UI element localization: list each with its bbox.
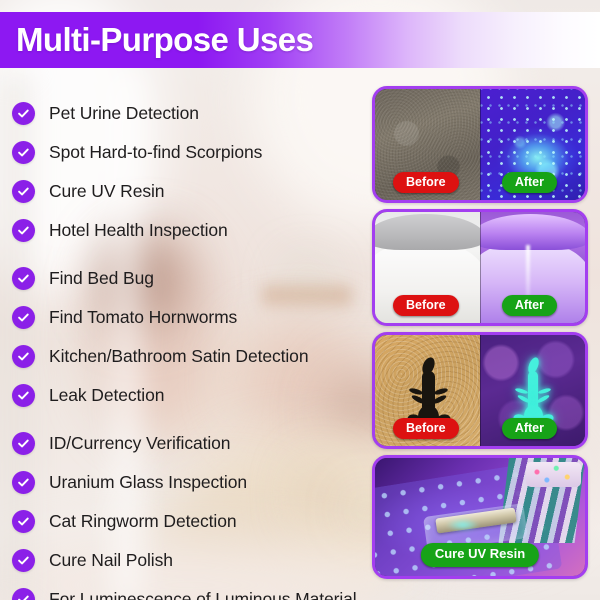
check-circle-icon: [12, 588, 35, 600]
check-circle-icon: [12, 510, 35, 533]
list-item: Kitchen/Bathroom Satin Detection: [12, 339, 384, 373]
check-circle-icon: [12, 102, 35, 125]
after-badge: After: [502, 418, 557, 439]
list-item: Leak Detection: [12, 378, 384, 412]
list-item: For Luminescence of Luminous Material: [12, 582, 384, 600]
page-title: Multi-Purpose Uses: [16, 21, 313, 59]
comparison-card-scorpion: Before After: [372, 332, 588, 449]
feature-card-cure-uv-resin: Cure UV Resin: [372, 455, 588, 579]
list-item: Spot Hard-to-find Scorpions: [12, 135, 384, 169]
feature-group-2: Find Bed Bug Find Tomato Hornworms Kitch…: [12, 261, 384, 412]
card-divider: [480, 89, 481, 200]
list-item: Find Bed Bug: [12, 261, 384, 295]
card-divider: [480, 335, 481, 446]
feature-group-3: ID/Currency Verification Uranium Glass I…: [12, 426, 384, 600]
header-banner: Multi-Purpose Uses: [0, 12, 600, 68]
list-item: Cure UV Resin: [12, 174, 384, 208]
list-item: Uranium Glass Inspection: [12, 465, 384, 499]
after-badge: After: [502, 295, 557, 316]
check-circle-icon: [12, 471, 35, 494]
check-circle-icon: [12, 549, 35, 572]
list-item-label: Cure Nail Polish: [49, 550, 173, 571]
list-item: Cat Ringworm Detection: [12, 504, 384, 538]
comparison-card-list: Before After Before After: [372, 86, 588, 579]
before-badge: Before: [393, 172, 459, 193]
list-item-label: For Luminescence of Luminous Material: [49, 589, 357, 600]
list-item-label: Leak Detection: [49, 385, 164, 406]
list-item: Hotel Health Inspection: [12, 213, 384, 247]
check-circle-icon: [12, 306, 35, 329]
list-item-label: Uranium Glass Inspection: [49, 472, 247, 493]
check-circle-icon: [12, 267, 35, 290]
list-item: Pet Urine Detection: [12, 96, 384, 130]
before-badge: Before: [393, 295, 459, 316]
poster-root: Multi-Purpose Uses Pet Urine Detection S…: [0, 0, 600, 600]
after-badge: After: [502, 172, 557, 193]
before-badge: Before: [393, 418, 459, 439]
list-item-label: Spot Hard-to-find Scorpions: [49, 142, 262, 163]
list-item-label: Pet Urine Detection: [49, 103, 199, 124]
comparison-card-toilet: Before After: [372, 209, 588, 326]
check-circle-icon: [12, 219, 35, 242]
list-item-label: Cat Ringworm Detection: [49, 511, 236, 532]
card-divider: [480, 212, 481, 323]
list-item-label: Cure UV Resin: [49, 181, 164, 202]
check-circle-icon: [12, 180, 35, 203]
list-item: Find Tomato Hornworms: [12, 300, 384, 334]
list-item-label: Find Bed Bug: [49, 268, 154, 289]
list-item: ID/Currency Verification: [12, 426, 384, 460]
feature-list: Pet Urine Detection Spot Hard-to-find Sc…: [12, 96, 384, 600]
feature-group-1: Pet Urine Detection Spot Hard-to-find Sc…: [12, 96, 384, 247]
check-circle-icon: [12, 432, 35, 455]
cure-uv-resin-badge: Cure UV Resin: [421, 543, 539, 567]
list-item: Cure Nail Polish: [12, 543, 384, 577]
check-circle-icon: [12, 141, 35, 164]
list-item-label: Hotel Health Inspection: [49, 220, 228, 241]
check-circle-icon: [12, 384, 35, 407]
list-item-label: ID/Currency Verification: [49, 433, 230, 454]
comparison-card-carpet: Before After: [372, 86, 588, 203]
check-circle-icon: [12, 345, 35, 368]
list-item-label: Find Tomato Hornworms: [49, 307, 237, 328]
list-item-label: Kitchen/Bathroom Satin Detection: [49, 346, 308, 367]
